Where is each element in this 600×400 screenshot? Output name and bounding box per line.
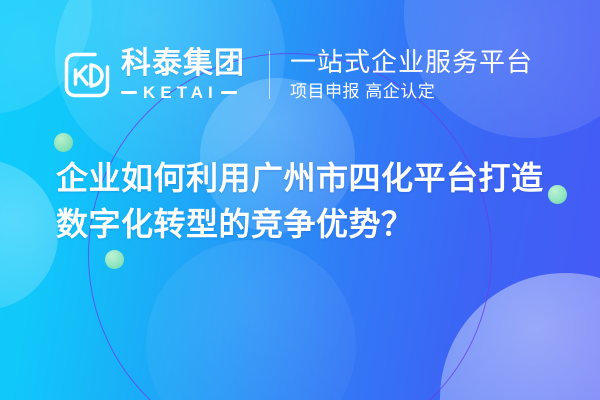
banner-header: 科泰集团 KETAI 一站式企业服务平台 项目申报 高企认定 bbox=[62, 40, 533, 110]
promo-banner: 科泰集团 KETAI 一站式企业服务平台 项目申报 高企认定 企业如何利用广州市… bbox=[0, 0, 600, 400]
page-title: 企业如何利用广州市四化平台打造数字化转型的竞争优势？ bbox=[56, 155, 556, 248]
tagline-main: 一站式企业服务平台 bbox=[290, 48, 533, 77]
accent-dot bbox=[105, 250, 124, 269]
tagline-sub: 项目申报 高企认定 bbox=[290, 82, 533, 102]
brand-logo[interactable]: 科泰集团 KETAI bbox=[62, 49, 245, 101]
tagline-block: 一站式企业服务平台 项目申报 高企认定 bbox=[290, 48, 533, 103]
accent-dot bbox=[54, 133, 73, 152]
header-divider bbox=[269, 51, 270, 99]
background-circle-lowerright bbox=[440, 273, 600, 400]
wordmark-rule-left bbox=[121, 91, 137, 94]
brand-name-en-row: KETAI bbox=[121, 84, 245, 101]
ketai-kd-monogram-icon bbox=[62, 50, 112, 100]
background-circle-left bbox=[0, 160, 58, 310]
background-circle-lower bbox=[146, 240, 356, 400]
wordmark-rule-right bbox=[221, 91, 237, 94]
brand-name-cn: 科泰集团 bbox=[121, 49, 245, 79]
brand-name-en: KETAI bbox=[143, 84, 218, 101]
brand-wordmark: 科泰集团 KETAI bbox=[121, 49, 245, 101]
